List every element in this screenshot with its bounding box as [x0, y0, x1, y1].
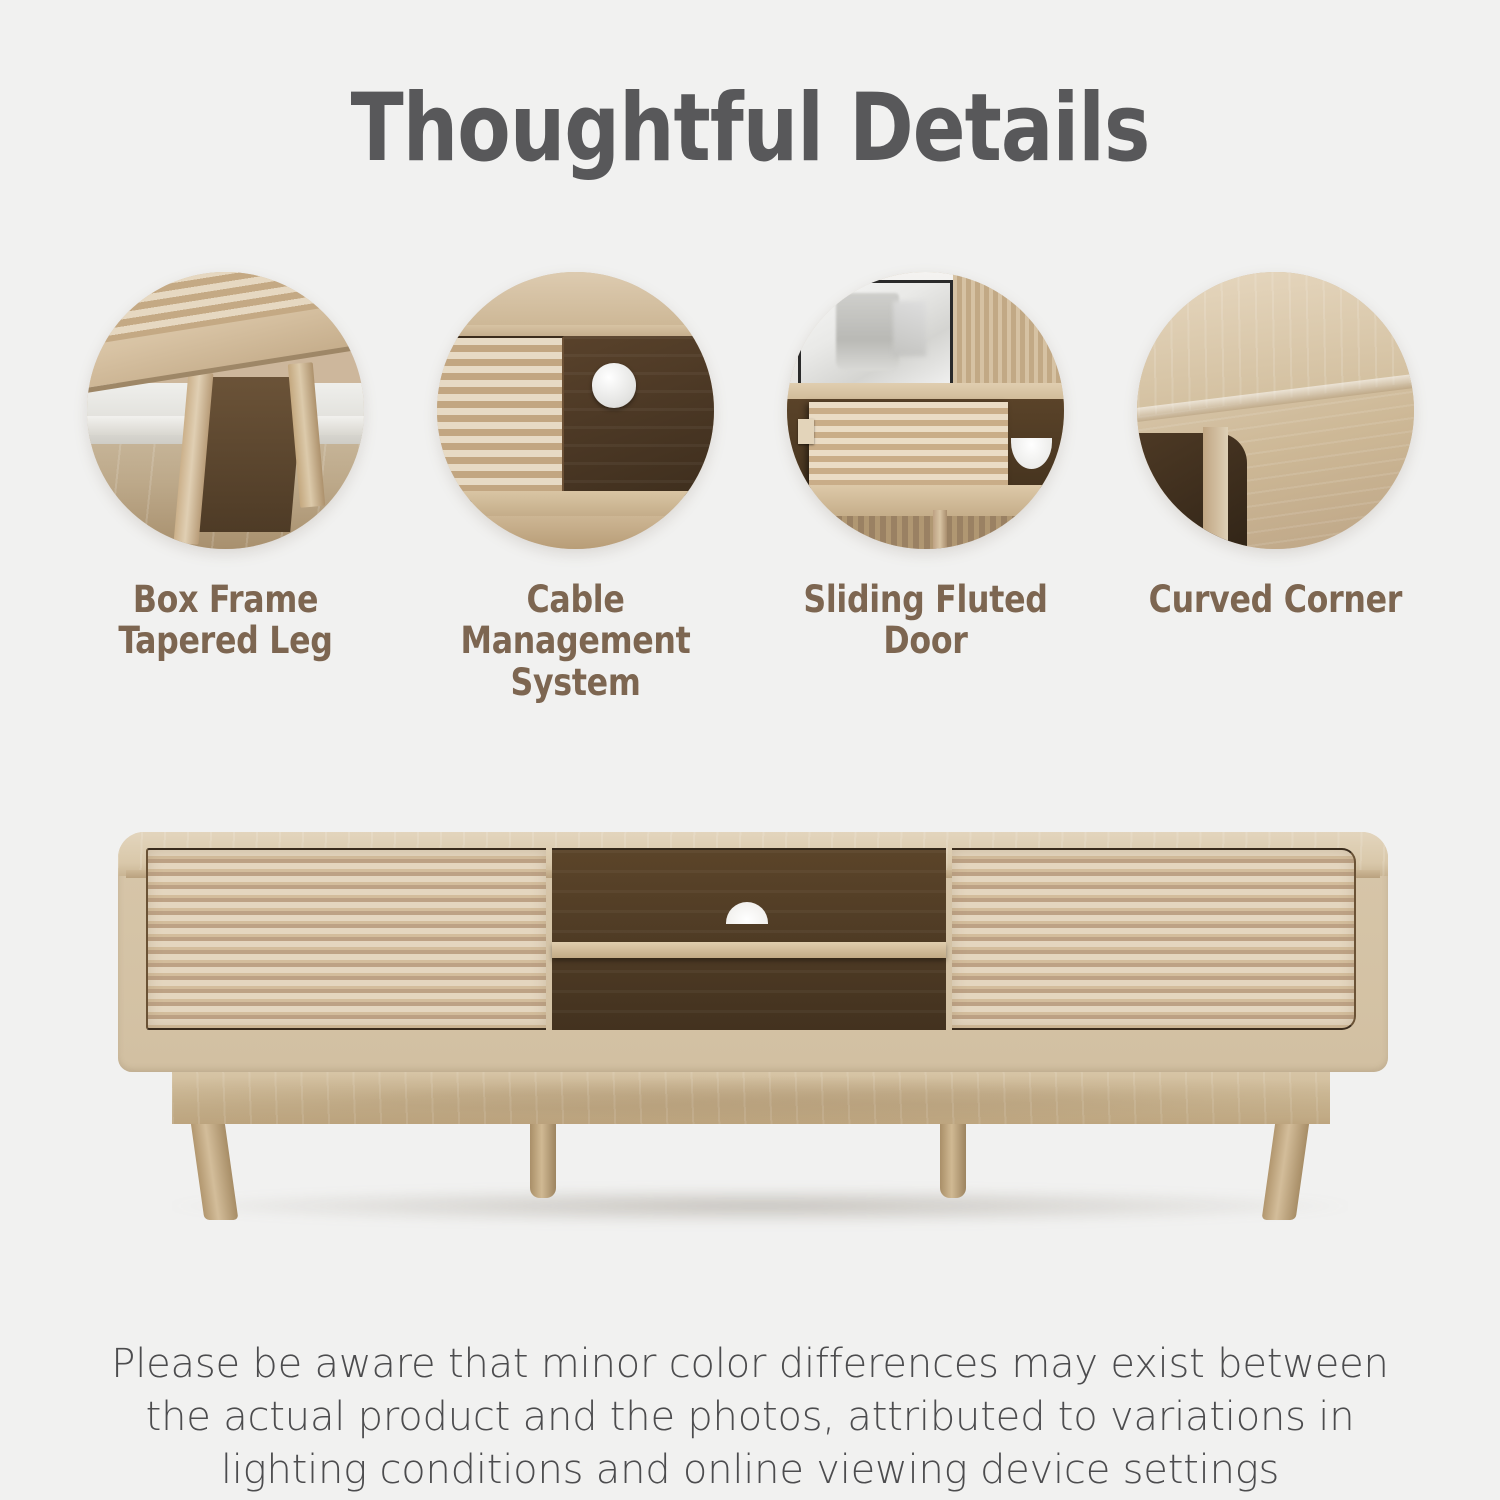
lower-slat-panel: [787, 516, 1064, 549]
disclaimer-line-3: lighting conditions and online viewing d…: [0, 1444, 1500, 1497]
sliding-fluted-door-left: [146, 848, 546, 1030]
feature-image-cable-management-system: [437, 272, 714, 549]
feature-label-cable-management-system: Cable Management System: [443, 579, 706, 703]
cable-grommet-icon: [592, 363, 636, 407]
disclaimer-line-2: the actual product and the photos, attri…: [0, 1391, 1500, 1444]
feature-image-box-frame-tapered-leg: [87, 272, 364, 549]
feature-label-sliding-fluted-door: Sliding Fluted Door: [793, 579, 1056, 662]
sliding-fluted-door-right: [952, 848, 1356, 1030]
framed-artwork: [798, 280, 953, 385]
feature-item-box-frame-tapered-leg: Box Frame Tapered Leg: [87, 272, 364, 703]
sliding-fluted-door-panel: [809, 402, 1008, 485]
center-shelf-divider: [552, 942, 946, 958]
frame-apron: [172, 1068, 1330, 1124]
fluted-door-panel: [437, 336, 564, 502]
feature-item-curved-corner: Curved Corner: [1137, 272, 1414, 703]
open-center-cavity: [552, 848, 946, 1030]
feature-image-curved-corner: [1137, 272, 1414, 549]
feature-label-line-2: Management: [460, 619, 690, 662]
feature-item-cable-management-system: Cable Management System: [437, 272, 714, 703]
feature-label-line-2: Tapered Leg: [118, 619, 332, 662]
feature-label-line-1: Curved: [1148, 578, 1272, 621]
feature-label-box-frame-tapered-leg: Box Frame Tapered Leg: [93, 579, 356, 662]
feature-label-line-3: System: [510, 661, 640, 704]
feature-label-line-1: Box Frame: [132, 578, 317, 621]
fluted-panel: [87, 272, 347, 353]
feature-label-line-1: Sliding: [803, 578, 924, 621]
feature-image-sliding-fluted-door: [787, 272, 1064, 549]
feature-item-sliding-fluted-door: Sliding Fluted Door: [787, 272, 1064, 703]
under-cabinet-shadow: [196, 377, 304, 532]
door-handle: [798, 419, 815, 444]
cabinet-base: [787, 485, 1064, 518]
feature-label-line-1: Cable: [526, 578, 624, 621]
disclaimer-line-1: Please be aware that minor color differe…: [0, 1338, 1500, 1391]
feature-label-line-2: Corner: [1283, 578, 1401, 621]
cabinet-base: [437, 516, 714, 549]
interior-cavity: [561, 336, 713, 497]
feature-list: Box Frame Tapered Leg Cable Management S…: [0, 272, 1500, 703]
curved-corner-edge: [1203, 427, 1228, 549]
product-hero-image: [0, 800, 1500, 1280]
interior-cavity: [1137, 433, 1248, 549]
cabinet-leg: [933, 510, 947, 549]
product-drop-shadow: [170, 1188, 1350, 1224]
cabinet-shelf: [437, 491, 714, 519]
feature-label-curved-corner: Curved Corner: [1148, 579, 1401, 620]
page-title: Thoughtful Details: [60, 74, 1440, 183]
slatted-wall-panel: [953, 272, 1064, 388]
color-disclaimer: Please be aware that minor color differe…: [0, 1338, 1500, 1496]
